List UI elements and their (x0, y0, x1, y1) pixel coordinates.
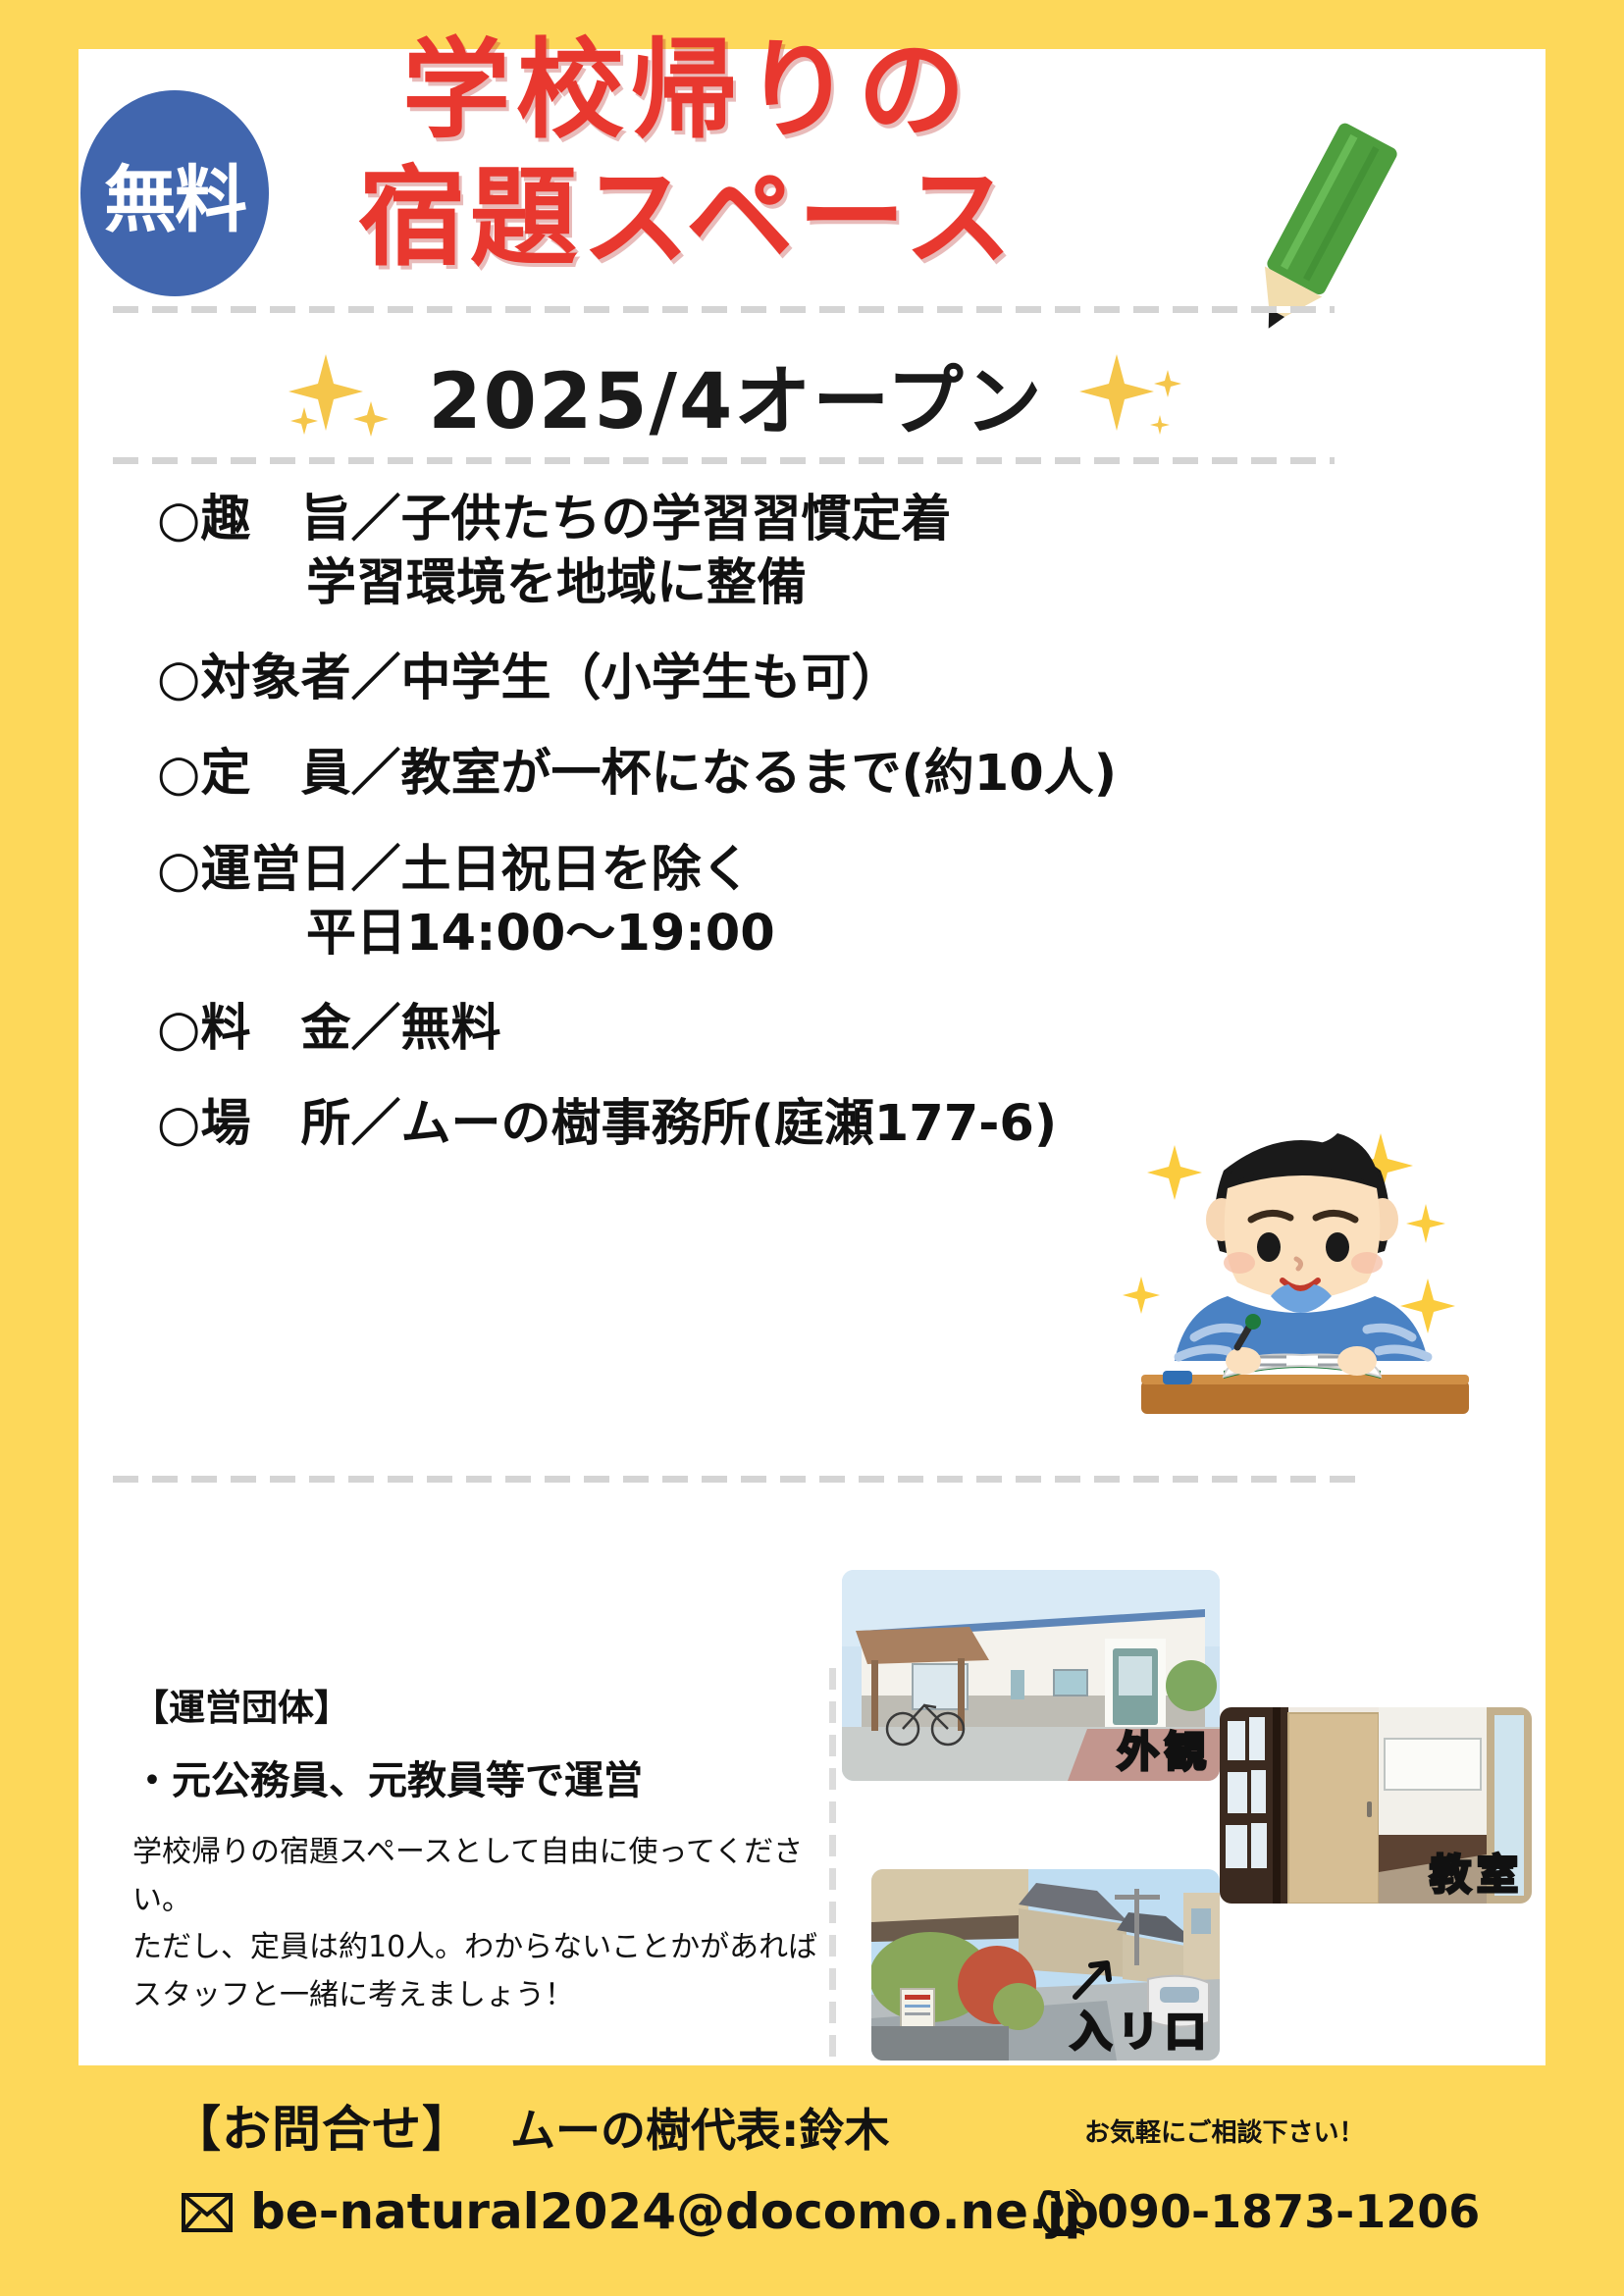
title-line-1: 学校帰りの (196, 27, 1178, 155)
info-label-opendays: ○運営日／土日祝日を除く (157, 841, 752, 899)
info-item-opendays: ○運営日／土日祝日を除く 平日14:00〜19:00 (157, 841, 1335, 963)
poster-root: 無料 学校帰りの 宿題スペース 2025/4オープン (0, 0, 1624, 2296)
photo-classroom: 教室 (1220, 1707, 1532, 1904)
boy-studying-icon (1114, 1094, 1496, 1428)
sparkle-icon-right (1077, 346, 1185, 444)
contact-note: お気軽にご相談下さい！ (1084, 2113, 1364, 2149)
info-item-fee: ○料 金／無料 (157, 1000, 1335, 1058)
info-item-target: ○対象者／中学生（小学生も可） (157, 650, 1335, 707)
operator-body-line-1: 学校帰りの宿題スペースとして自由に使ってください。 (132, 1829, 819, 1924)
phone-icon (1035, 2189, 1084, 2241)
photo-exterior: 外観 (842, 1570, 1220, 1781)
photo-entrance: 入リ口 (871, 1869, 1220, 2061)
footer-contact: 【お問合せ】 ムーの樹代表:鈴木 お気軽にご相談下さい！ be-natural2… (0, 2065, 1624, 2296)
info-sub-purpose: 学習環境を地域に整備 (157, 554, 1335, 612)
open-date-text: 2025/4オープン (428, 340, 1043, 450)
divider-top (113, 306, 1335, 313)
info-item-capacity: ○定 員／教室が一杯になるまで(約10人) (157, 745, 1335, 803)
open-banner: 2025/4オープン (128, 341, 1344, 449)
contact-email[interactable]: be-natural2024@docomo.ne.jp (250, 2183, 1099, 2240)
info-label-target: ○対象者／中学生（小学生も可） (157, 650, 902, 707)
contact-title: 【お問合せ】 (172, 2090, 472, 2161)
title-line-2: 宿題スペース (196, 155, 1178, 283)
operator-block: 【運営団体】 ・元公務員、元教員等で運営 学校帰りの宿題スペースとして自由に使っ… (132, 1678, 819, 2019)
info-label-fee: ○料 金／無料 (157, 1000, 501, 1058)
sparkle-icon-left (287, 346, 394, 444)
info-label-purpose: ○趣 旨／子供たちの学習習慣定着 (157, 491, 952, 548)
photo-label-exterior: 外観 (1118, 1719, 1212, 1779)
vertical-divider (829, 1668, 836, 2061)
divider-bottom (113, 1476, 1369, 1483)
photo-label-classroom: 教室 (1430, 1842, 1524, 1902)
poster-title: 学校帰りの 宿題スペース (196, 27, 1178, 283)
contact-phone[interactable]: 090-1873-1206 (1097, 2185, 1480, 2238)
info-item-purpose: ○趣 旨／子供たちの学習習慣定着 学習環境を地域に整備 (157, 491, 1335, 612)
envelope-icon (182, 2193, 233, 2237)
info-label-capacity: ○定 員／教室が一杯になるまで(約10人) (157, 745, 1117, 803)
divider-middle (113, 457, 1335, 464)
info-list: ○趣 旨／子供たちの学習習慣定着 学習環境を地域に整備 ○対象者／中学生（小学生… (157, 491, 1335, 1190)
info-label-place: ○場 所／ムーの樹事務所(庭瀬177-6) (157, 1095, 1057, 1153)
operator-body-line-2: ただし、定員は約10人。わからないことかがあれば (132, 1924, 819, 1972)
operator-body-line-3: スタッフと一緒に考えましょう！ (132, 1972, 819, 2020)
info-sub-opendays: 平日14:00〜19:00 (157, 905, 1335, 963)
operator-bullet: ・元公務員、元教員等で運営 (132, 1748, 819, 1805)
photo-label-entrance: 入リ口 (1071, 1999, 1212, 2059)
contact-representative: ムーの樹代表:鈴木 (510, 2095, 889, 2160)
operator-heading: 【運営団体】 (132, 1678, 819, 1731)
